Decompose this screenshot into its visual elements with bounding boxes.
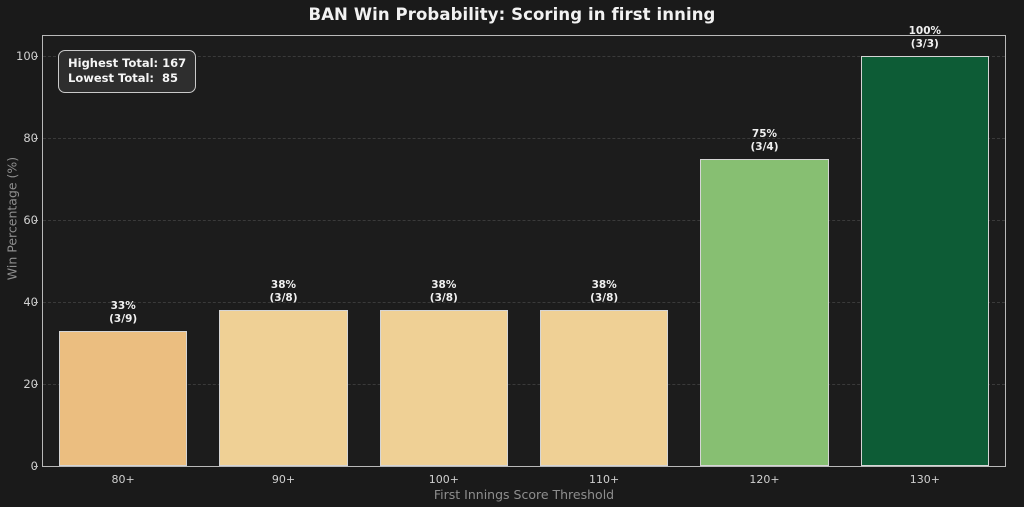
bar-value-label: 100% (3/3) bbox=[865, 25, 985, 51]
bar-100plus[interactable] bbox=[380, 310, 508, 466]
bar-130plus[interactable] bbox=[861, 56, 989, 466]
bar-value-label: 33% (3/9) bbox=[63, 300, 183, 326]
bar-110plus[interactable] bbox=[540, 310, 668, 466]
y-tick-mark bbox=[34, 384, 38, 385]
bar-80plus[interactable] bbox=[59, 331, 187, 466]
bar-120plus[interactable] bbox=[700, 159, 828, 466]
bar-90plus[interactable] bbox=[219, 310, 347, 466]
y-tick-label: 20 bbox=[4, 377, 38, 391]
chart-figure: BAN Win Probability: Scoring in first in… bbox=[0, 0, 1024, 507]
bar-value-label: 38% (3/8) bbox=[224, 279, 344, 305]
x-axis-label: First Innings Score Threshold bbox=[42, 487, 1006, 502]
y-tick-label: 40 bbox=[4, 295, 38, 309]
x-tick-label: 100+ bbox=[429, 473, 459, 486]
y-tick-mark bbox=[34, 56, 38, 57]
x-tick-label: 120+ bbox=[749, 473, 779, 486]
y-tick-label: 100 bbox=[4, 49, 38, 63]
x-tick-label: 80+ bbox=[112, 473, 135, 486]
y-tick-mark bbox=[34, 302, 38, 303]
x-tick-label: 90+ bbox=[272, 473, 295, 486]
chart-title: BAN Win Probability: Scoring in first in… bbox=[0, 5, 1024, 24]
plot-area: 33% (3/9)38% (3/8)38% (3/8)38% (3/8)75% … bbox=[42, 35, 1006, 467]
bar-value-label: 75% (3/4) bbox=[705, 128, 825, 154]
y-tick-mark bbox=[34, 220, 38, 221]
highest-total-text: Highest Total: 167 bbox=[68, 56, 186, 70]
bar-value-label: 38% (3/8) bbox=[544, 279, 664, 305]
bar-value-label: 38% (3/8) bbox=[384, 279, 504, 305]
x-tick-label: 130+ bbox=[910, 473, 940, 486]
x-tick-label: 110+ bbox=[589, 473, 619, 486]
lowest-total-text: Lowest Total: 85 bbox=[68, 71, 178, 85]
y-tick-label: 60 bbox=[4, 213, 38, 227]
y-axis: Win Percentage (%) 020406080100 bbox=[0, 35, 38, 467]
totals-annotation-box: Highest Total: 167Lowest Total: 85 bbox=[58, 50, 196, 93]
y-tick-mark bbox=[34, 466, 38, 467]
y-tick-mark bbox=[34, 138, 38, 139]
plot-inner: 33% (3/9)38% (3/8)38% (3/8)38% (3/8)75% … bbox=[43, 36, 1005, 466]
y-tick-label: 80 bbox=[4, 131, 38, 145]
y-tick-label: 0 bbox=[4, 459, 38, 473]
